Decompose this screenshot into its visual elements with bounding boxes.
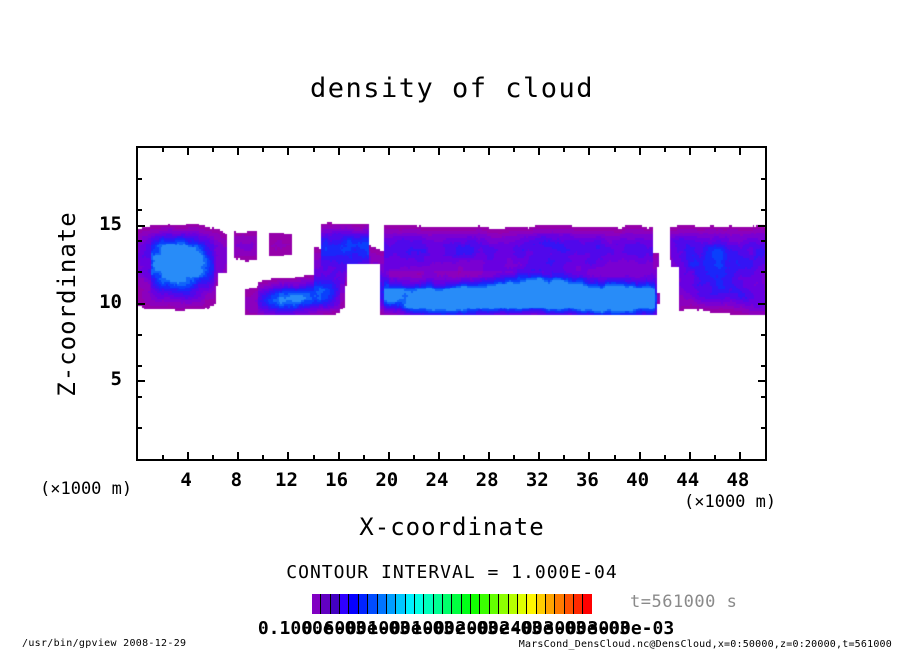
y-tick-right bbox=[758, 380, 766, 382]
x-tick-label: 36 bbox=[576, 469, 599, 491]
colorbar-band bbox=[546, 594, 555, 614]
x-tick-label: 8 bbox=[231, 469, 242, 491]
x-tick bbox=[287, 452, 289, 460]
x-tick-top bbox=[463, 147, 465, 152]
y-tick bbox=[137, 380, 145, 382]
colorbar-band bbox=[396, 594, 405, 614]
colorbar-band bbox=[321, 594, 330, 614]
x-tick bbox=[413, 455, 415, 460]
y-tick bbox=[137, 396, 142, 398]
colorbar-band bbox=[527, 594, 536, 614]
x-tick bbox=[338, 452, 340, 460]
colorbar-band bbox=[509, 594, 518, 614]
y-tick-right bbox=[758, 303, 766, 305]
x-tick-top bbox=[287, 147, 289, 155]
y-tick bbox=[137, 334, 142, 336]
colorbar-band bbox=[443, 594, 452, 614]
y-tick bbox=[137, 178, 142, 180]
x-unit-left-label: (×1000 m) bbox=[40, 479, 132, 499]
x-tick-top bbox=[187, 147, 189, 155]
x-tick bbox=[313, 455, 315, 460]
x-tick-label: 28 bbox=[476, 469, 499, 491]
x-tick-top bbox=[363, 147, 365, 152]
x-tick bbox=[538, 452, 540, 460]
y-tick bbox=[137, 303, 145, 305]
colorbar-band bbox=[424, 594, 433, 614]
colorbar-band bbox=[480, 594, 489, 614]
x-tick-top bbox=[664, 147, 666, 152]
colorbar-band bbox=[555, 594, 564, 614]
colorbar-band bbox=[471, 594, 480, 614]
colorbar-band bbox=[518, 594, 527, 614]
x-tick bbox=[463, 455, 465, 460]
x-tick-label: 20 bbox=[375, 469, 398, 491]
x-tick-label: 40 bbox=[626, 469, 649, 491]
colorbar-band bbox=[574, 594, 583, 614]
x-tick bbox=[187, 452, 189, 460]
x-tick-top bbox=[338, 147, 340, 155]
x-tick bbox=[714, 455, 716, 460]
colorbar-band bbox=[368, 594, 377, 614]
x-tick bbox=[262, 455, 264, 460]
x-tick bbox=[639, 452, 641, 460]
x-tick-label: 48 bbox=[726, 469, 749, 491]
x-unit-right-label: (×1000 m) bbox=[684, 492, 776, 512]
x-tick bbox=[563, 455, 565, 460]
colorbar-band bbox=[331, 594, 340, 614]
x-tick bbox=[162, 455, 164, 460]
x-tick-top bbox=[413, 147, 415, 152]
x-tick-top bbox=[689, 147, 691, 155]
y-tick-label: 5 bbox=[76, 368, 122, 390]
x-tick-label: 12 bbox=[275, 469, 298, 491]
y-tick bbox=[137, 240, 142, 242]
x-tick bbox=[438, 452, 440, 460]
x-tick-top bbox=[488, 147, 490, 155]
x-tick-top bbox=[388, 147, 390, 155]
x-tick-top bbox=[162, 147, 164, 152]
x-tick bbox=[237, 452, 239, 460]
colorbar-band bbox=[312, 594, 321, 614]
x-tick-top bbox=[212, 147, 214, 152]
plot-frame bbox=[136, 146, 767, 461]
x-tick-label: 32 bbox=[526, 469, 549, 491]
colorbar-band bbox=[340, 594, 349, 614]
colorbar-band bbox=[565, 594, 574, 614]
x-tick bbox=[513, 455, 515, 460]
x-tick bbox=[739, 452, 741, 460]
y-tick-right bbox=[761, 396, 766, 398]
colorbar-band bbox=[387, 594, 396, 614]
x-tick-top bbox=[438, 147, 440, 155]
color-scale-bar bbox=[312, 594, 592, 614]
contour-interval-label: CONTOUR INTERVAL = 1.000E-04 bbox=[0, 562, 904, 583]
y-tick bbox=[137, 209, 142, 211]
x-tick-label: 44 bbox=[676, 469, 699, 491]
x-axis-title: X-coordinate bbox=[0, 513, 904, 541]
x-tick-top bbox=[563, 147, 565, 152]
x-tick-label: 24 bbox=[426, 469, 449, 491]
y-tick bbox=[137, 427, 142, 429]
colorbar-band bbox=[583, 594, 591, 614]
y-tick-right bbox=[761, 365, 766, 367]
y-tick-right bbox=[761, 271, 766, 273]
x-tick-top bbox=[714, 147, 716, 152]
cloud-density-heatmap bbox=[138, 148, 765, 459]
page-title: density of cloud bbox=[0, 73, 904, 104]
y-tick-label: 10 bbox=[76, 291, 122, 313]
colorbar-tick-label: 0.3000e-03 bbox=[566, 618, 674, 639]
x-tick-top bbox=[588, 147, 590, 155]
y-tick bbox=[137, 365, 142, 367]
x-tick bbox=[588, 452, 590, 460]
y-axis-title: Z-coordinate bbox=[53, 189, 81, 419]
y-tick-right bbox=[758, 225, 766, 227]
x-tick-label: 16 bbox=[325, 469, 348, 491]
x-tick bbox=[488, 452, 490, 460]
x-tick bbox=[388, 452, 390, 460]
x-tick bbox=[689, 452, 691, 460]
colorbar-band bbox=[378, 594, 387, 614]
x-tick bbox=[363, 455, 365, 460]
footer-dataset-info: MarsCond_DensCloud.nc@DensCloud,x=0:5000… bbox=[519, 639, 892, 650]
x-tick-top bbox=[237, 147, 239, 155]
colorbar-band bbox=[434, 594, 443, 614]
x-tick bbox=[614, 455, 616, 460]
x-tick-top bbox=[262, 147, 264, 152]
colorbar-band bbox=[452, 594, 461, 614]
x-tick-label: 4 bbox=[180, 469, 191, 491]
colorbar-band bbox=[537, 594, 546, 614]
colorbar-band bbox=[499, 594, 508, 614]
x-tick-top bbox=[538, 147, 540, 155]
colorbar-band bbox=[359, 594, 368, 614]
y-tick-right bbox=[761, 240, 766, 242]
colorbar-tick-labels: 0.1000e-030.6000e-030.1000e-030.1000e-03… bbox=[260, 618, 650, 640]
colorbar-band bbox=[490, 594, 499, 614]
y-tick-right bbox=[761, 427, 766, 429]
x-tick-top bbox=[739, 147, 741, 155]
x-tick-top bbox=[313, 147, 315, 152]
y-tick-right bbox=[761, 178, 766, 180]
y-tick-right bbox=[761, 209, 766, 211]
x-tick bbox=[664, 455, 666, 460]
x-tick-top bbox=[614, 147, 616, 152]
colorbar-band bbox=[462, 594, 471, 614]
x-tick bbox=[212, 455, 214, 460]
time-stamp-label: t=561000 s bbox=[630, 592, 737, 612]
x-tick-top bbox=[639, 147, 641, 155]
y-tick bbox=[137, 271, 142, 273]
y-tick-label: 15 bbox=[76, 213, 122, 235]
colorbar-band bbox=[415, 594, 424, 614]
y-tick-right bbox=[761, 334, 766, 336]
colorbar-band bbox=[349, 594, 358, 614]
footer-generator-info: /usr/bin/gpview 2008-12-29 bbox=[22, 638, 186, 649]
x-tick-top bbox=[513, 147, 515, 152]
colorbar-band bbox=[406, 594, 415, 614]
y-tick bbox=[137, 225, 145, 227]
